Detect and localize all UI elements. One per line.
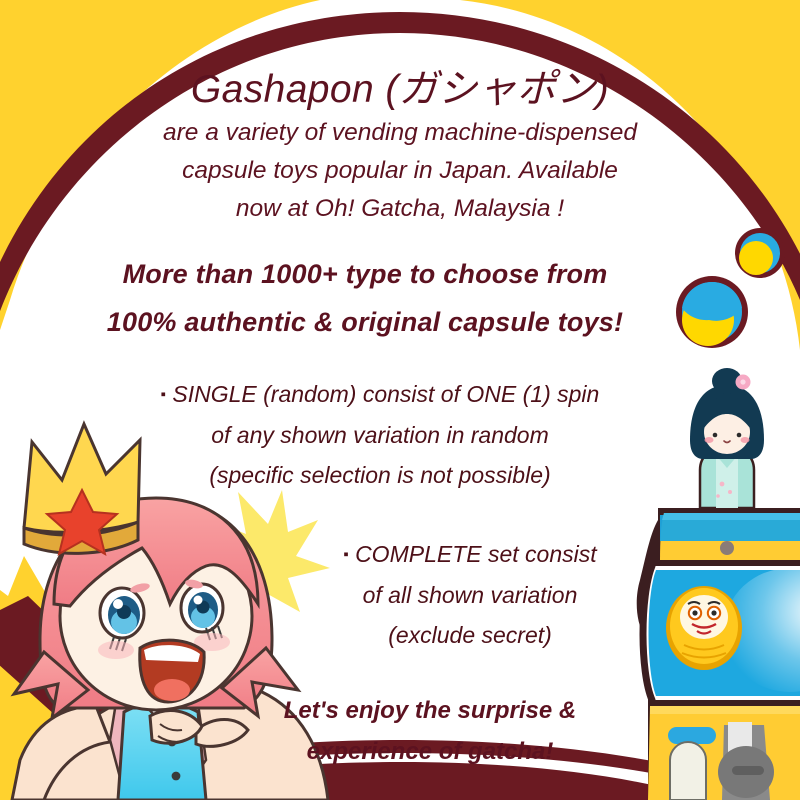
eye-right xyxy=(181,584,223,632)
headline-line-1: More than 1000+ type to choose from xyxy=(40,250,690,298)
closing-block: Let's enjoy the surprise & experience of… xyxy=(230,690,630,772)
bullet-single-line-2: of any shown variation in random xyxy=(120,415,640,455)
page-title: Gashapon (ガシャポン) xyxy=(0,58,800,114)
capsule-ball-small xyxy=(735,228,785,278)
intro-paragraph: are a variety of vending machine-dispens… xyxy=(110,114,690,228)
closing-line-1: Let's enjoy the surprise & xyxy=(230,690,630,731)
dispenser-door xyxy=(670,742,706,800)
bullet-complete-line-1: ▪ COMPLETE set consist xyxy=(300,534,640,575)
flower-pin-icon xyxy=(736,375,751,390)
bullet-marker-icon: ▪ xyxy=(343,546,348,563)
bullet-single-line-3: (specific selection is not possible) xyxy=(120,455,640,495)
headline-line-2: 100% authentic & original capsule toys! xyxy=(40,298,690,346)
closing-line-2: experience of gatcha! xyxy=(230,731,630,772)
machine-screw xyxy=(720,541,734,555)
bullet-complete-line-2: of all shown variation xyxy=(300,575,640,615)
bullet-complete-text-1: COMPLETE set consist xyxy=(355,541,597,567)
gashapon-promo-poster: Gashapon (ガシャポン) are a variety of vendin… xyxy=(0,0,800,800)
intro-line-3: now at Oh! Gatcha, Malaysia ! xyxy=(110,190,690,228)
bullet-marker-icon: ▪ xyxy=(161,386,166,403)
intro-line-2: capsule toys popular in Japan. Available xyxy=(110,152,690,190)
daruma-capsule xyxy=(666,586,742,670)
bullet-single-block: ▪ SINGLE (random) consist of ONE (1) spi… xyxy=(120,374,640,495)
bullet-single-line-1: ▪ SINGLE (random) consist of ONE (1) spi… xyxy=(120,374,640,415)
bullet-complete-line-3: (exclude secret) xyxy=(300,615,640,655)
headline-block: More than 1000+ type to choose from 100%… xyxy=(40,250,690,346)
bullet-single-text-1: SINGLE (random) consist of ONE (1) spin xyxy=(172,381,599,407)
eye-left xyxy=(100,588,144,638)
intro-line-1: are a variety of vending machine-dispens… xyxy=(110,114,690,152)
bullet-complete-block: ▪ COMPLETE set consist of all shown vari… xyxy=(300,534,640,655)
